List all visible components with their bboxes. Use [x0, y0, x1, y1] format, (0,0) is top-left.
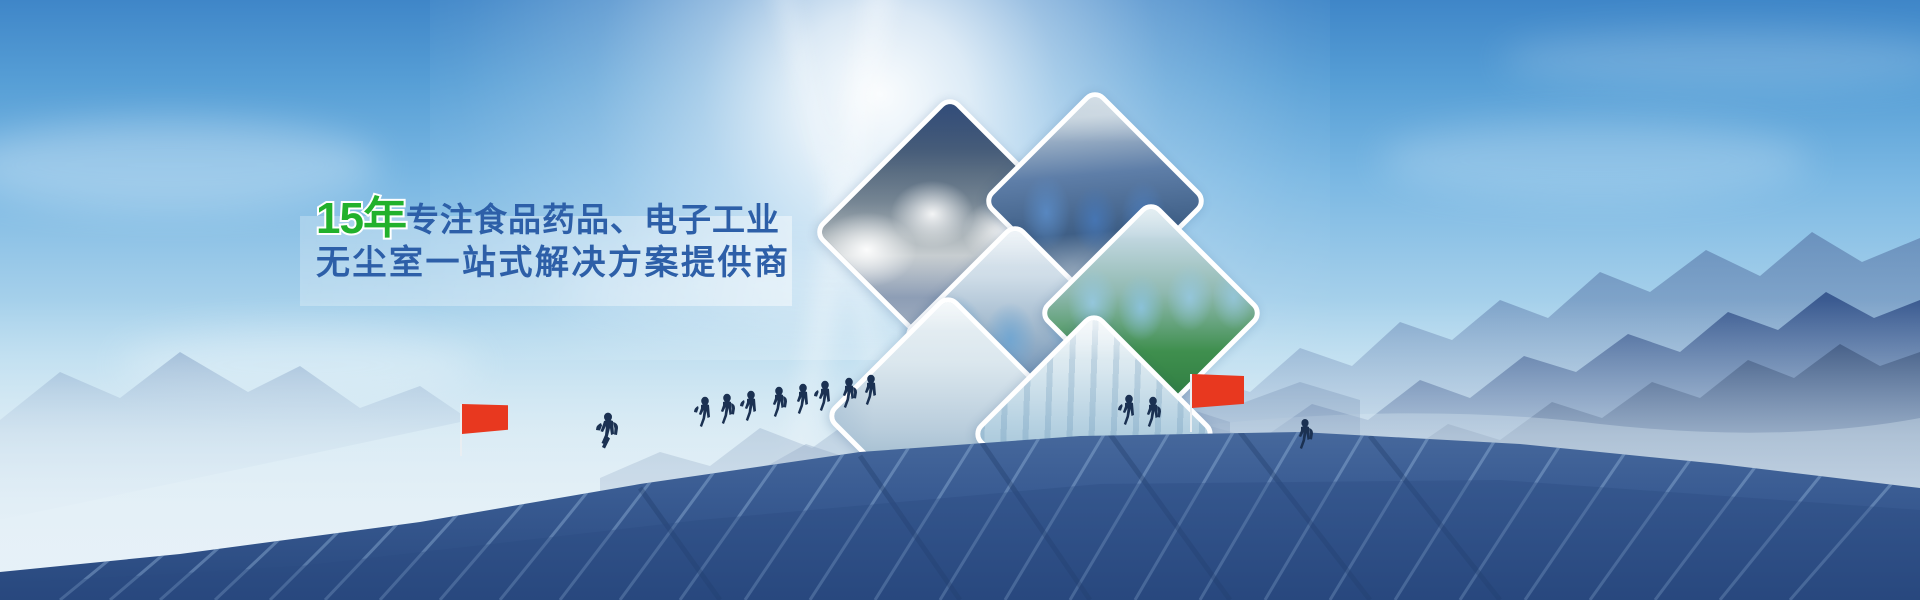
headline-line-1: 15年专注食品药品、电子工业: [316, 196, 836, 241]
headline-line-2-text: 无尘室一站式解决方案提供商: [316, 244, 791, 282]
diamond-photo-collage: [838, 92, 1278, 472]
cloud-wisp: [1500, 30, 1920, 90]
flag-pole: [460, 404, 462, 456]
headline-block: 15年专注食品药品、电子工业 无尘室一站式解决方案提供商: [316, 196, 836, 286]
headline-line-2: 无尘室一站式解决方案提供商: [316, 241, 836, 286]
years-badge: 15年: [316, 194, 406, 243]
hero-banner: 15年专注食品药品、电子工业 无尘室一站式解决方案提供商: [0, 0, 1920, 600]
red-flag-left: [460, 404, 508, 456]
flag-cloth: [462, 404, 508, 434]
cloud-wisp: [120, 330, 480, 400]
headline-line-1-text: 专注食品药品、电子工业: [406, 201, 780, 238]
cloud-wisp: [1380, 120, 1810, 200]
